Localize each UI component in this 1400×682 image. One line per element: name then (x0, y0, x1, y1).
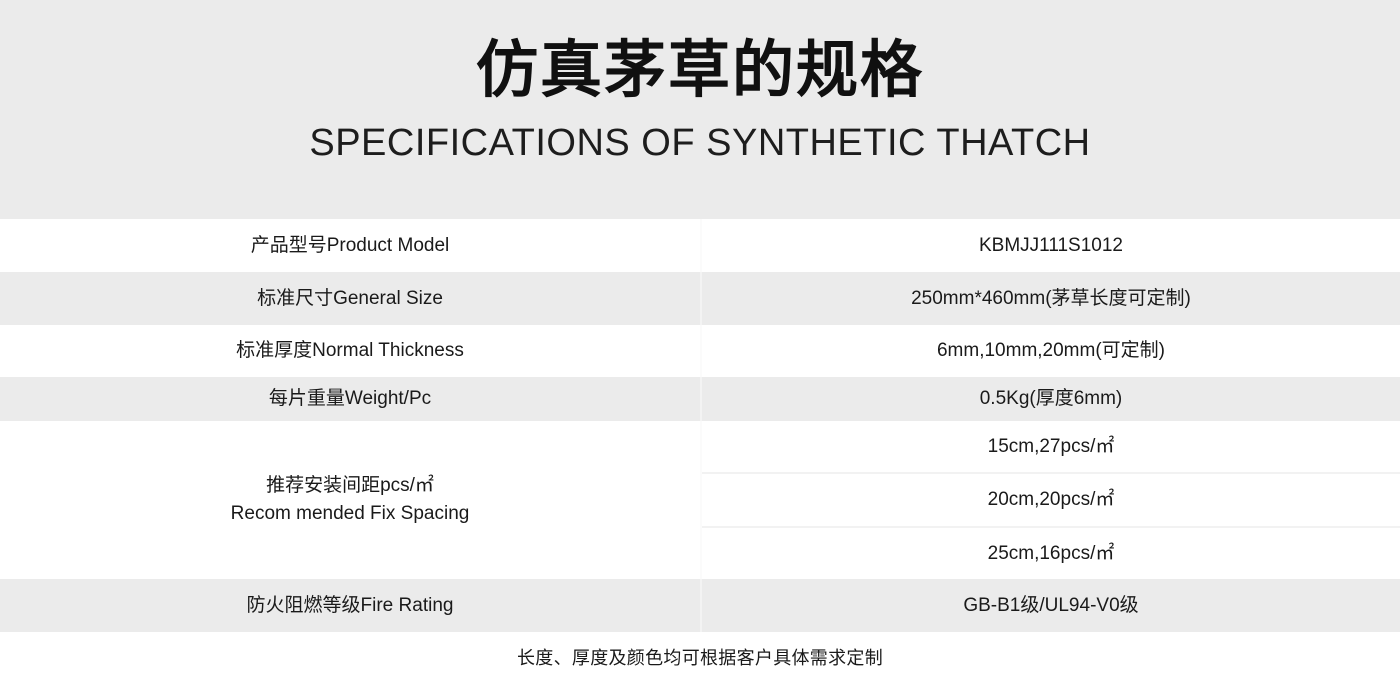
spec-value-group: 15cm,27pcs/㎡ 20cm,20pcs/㎡ 25cm,16pcs/㎡ (700, 421, 1400, 579)
table-row: 标准尺寸General Size 250mm*460mm(茅草长度可定制) (0, 272, 1400, 325)
spec-label: 防火阻燃等级Fire Rating (0, 579, 700, 632)
spec-value: 250mm*460mm(茅草长度可定制) (700, 272, 1400, 325)
spec-label: 推荐安装间距pcs/㎡ Recom mended Fix Spacing (0, 421, 700, 579)
spec-value: 6mm,10mm,20mm(可定制) (700, 325, 1400, 377)
spec-label: 标准厚度Normal Thickness (0, 325, 700, 377)
page-header: 仿真茅草的规格 SPECIFICATIONS OF SYNTHETIC THAT… (0, 0, 1400, 219)
table-row: 防火阻燃等级Fire Rating GB-B1级/UL94-V0级 (0, 579, 1400, 632)
spacing-subrows: 15cm,27pcs/㎡ 20cm,20pcs/㎡ 25cm,16pcs/㎡ (702, 421, 1400, 579)
spec-value: 0.5Kg(厚度6mm) (700, 377, 1400, 421)
table-row: 产品型号Product Model KBMJJ111S1012 (0, 219, 1400, 272)
footer-note: 长度、厚度及颜色均可根据客户具体需求定制 (0, 632, 1400, 682)
spacing-option: 15cm,27pcs/㎡ (702, 421, 1400, 474)
spec-label-line-1: 推荐安装间距pcs/㎡ (266, 472, 434, 500)
spec-value: KBMJJ111S1012 (700, 219, 1400, 272)
table-row-spacing: 推荐安装间距pcs/㎡ Recom mended Fix Spacing 15c… (0, 421, 1400, 579)
table-row: 标准厚度Normal Thickness 6mm,10mm,20mm(可定制) (0, 325, 1400, 377)
page-title-english: SPECIFICATIONS OF SYNTHETIC THATCH (309, 121, 1090, 167)
spacing-option: 25cm,16pcs/㎡ (702, 528, 1400, 579)
spec-label: 标准尺寸General Size (0, 272, 700, 325)
spacing-option: 20cm,20pcs/㎡ (702, 474, 1400, 527)
page-title-chinese: 仿真茅草的规格 (476, 36, 924, 105)
table-row: 每片重量Weight/Pc 0.5Kg(厚度6mm) (0, 377, 1400, 421)
spec-label: 产品型号Product Model (0, 219, 700, 272)
spec-label: 每片重量Weight/Pc (0, 377, 700, 421)
spec-label-line-2: Recom mended Fix Spacing (231, 500, 470, 528)
spec-value: GB-B1级/UL94-V0级 (700, 579, 1400, 632)
specification-page: 仿真茅草的规格 SPECIFICATIONS OF SYNTHETIC THAT… (0, 0, 1400, 682)
specifications-table: 产品型号Product Model KBMJJ111S1012 标准尺寸Gene… (0, 219, 1400, 632)
